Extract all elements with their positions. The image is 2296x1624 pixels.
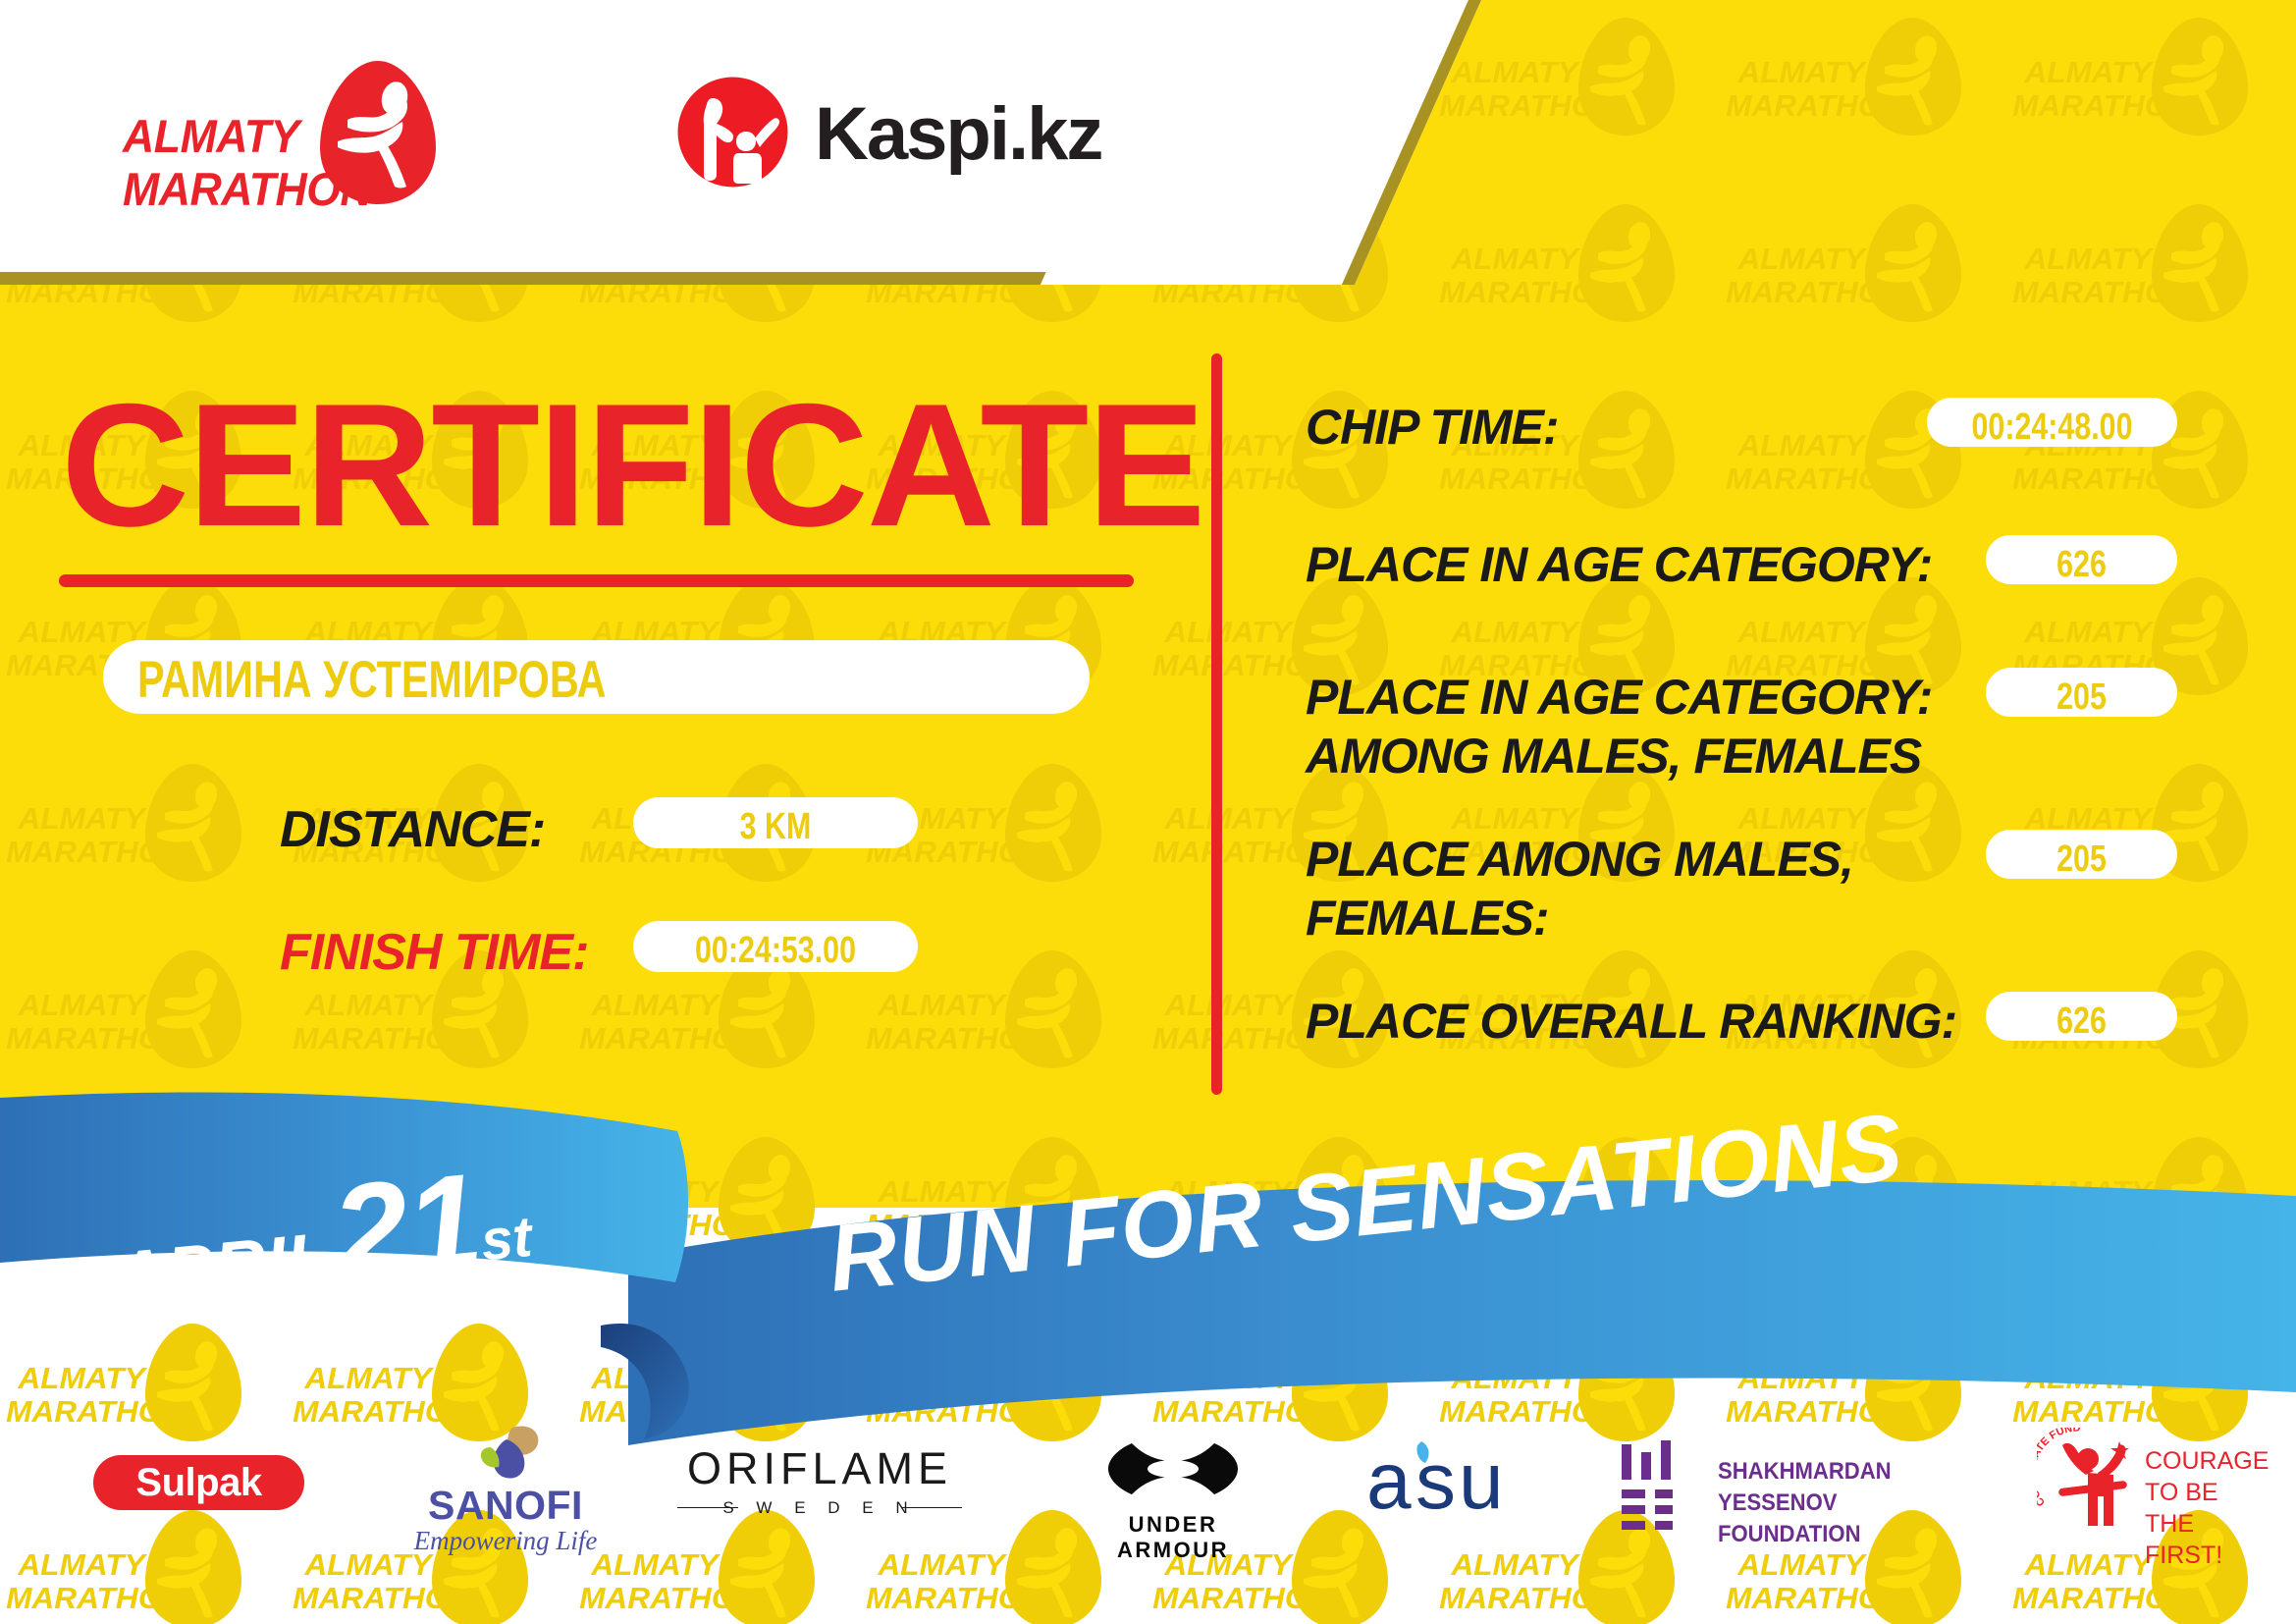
title-underline-rule bbox=[59, 574, 1134, 587]
place-among-label-line1: PLACE AMONG MALES, bbox=[1306, 830, 1993, 889]
oriflame-tagline: S W E D E N bbox=[677, 1498, 962, 1518]
place-age-category-value: 626 bbox=[2005, 544, 2159, 586]
participant-name-value: РАМИНА УСТЕМИРОВА bbox=[137, 650, 606, 710]
ribbon-month: APRIL bbox=[111, 1218, 335, 1318]
page-title: CERTIFICATE bbox=[61, 378, 1203, 553]
distance-value: 3 KM bbox=[662, 806, 889, 848]
ribbon-day-suffix: st bbox=[478, 1205, 535, 1273]
finish-time-label: FINISH TIME: bbox=[280, 923, 588, 982]
place-age-among-label-line2: AMONG MALES, FEMALES bbox=[1306, 727, 1993, 785]
under-armour-wordmark: UNDER ARMOUR bbox=[1075, 1512, 1271, 1563]
place-age-among-value: 205 bbox=[2005, 677, 2159, 719]
column-divider bbox=[1211, 353, 1222, 1095]
oriflame-rule-right bbox=[901, 1507, 962, 1508]
distance-label: DISTANCE: bbox=[280, 800, 545, 859]
place-age-among-label-line1: PLACE IN AGE CATEGORY: bbox=[1306, 668, 1993, 727]
courage-line3: THE FIRST! bbox=[2145, 1508, 2272, 1571]
almaty-marathon-line1: ALMATY bbox=[123, 110, 371, 163]
place-among-value: 205 bbox=[2005, 839, 2159, 881]
chip-time-label: CHIP TIME: bbox=[1306, 398, 1983, 457]
sanofi-tagline: Empowering Life bbox=[393, 1526, 618, 1556]
kaspi-wordmark: Kaspi.kz bbox=[815, 91, 1101, 177]
place-among-label-line2: FEMALES: bbox=[1306, 889, 1993, 947]
chip-time-value: 00:24:48.00 bbox=[1952, 406, 2153, 449]
almaty-marathon-wordmark: ALMATY MARATHON bbox=[123, 110, 371, 216]
ribbon-day: 21 bbox=[326, 1145, 487, 1310]
finish-time-value: 00:24:53.00 bbox=[662, 930, 889, 972]
yessenov-line2: FOUNDATION bbox=[1718, 1519, 1952, 1550]
header-logos: ALMATY MARATHON Kaspi.kz bbox=[0, 0, 1178, 275]
almaty-marathon-line2: MARATHON bbox=[123, 163, 371, 216]
certificate-canvas: ALMATY MARATHON Kaspi.kz CERTIFICATE РАМ… bbox=[0, 0, 2296, 1624]
place-overall-label: PLACE OVERALL RANKING: bbox=[1306, 992, 2012, 1051]
kaspi-logo[interactable]: Kaspi.kz bbox=[677, 77, 1099, 194]
event-date-ribbon: APRIL 21st RUN FOR SENSATIONS bbox=[0, 1080, 2296, 1492]
place-overall-value: 626 bbox=[2005, 1001, 2159, 1043]
kaspi-people-icon bbox=[677, 77, 788, 188]
place-age-category-label: PLACE IN AGE CATEGORY: bbox=[1306, 535, 1983, 594]
almaty-marathon-logo[interactable]: ALMATY MARATHON bbox=[123, 67, 447, 204]
